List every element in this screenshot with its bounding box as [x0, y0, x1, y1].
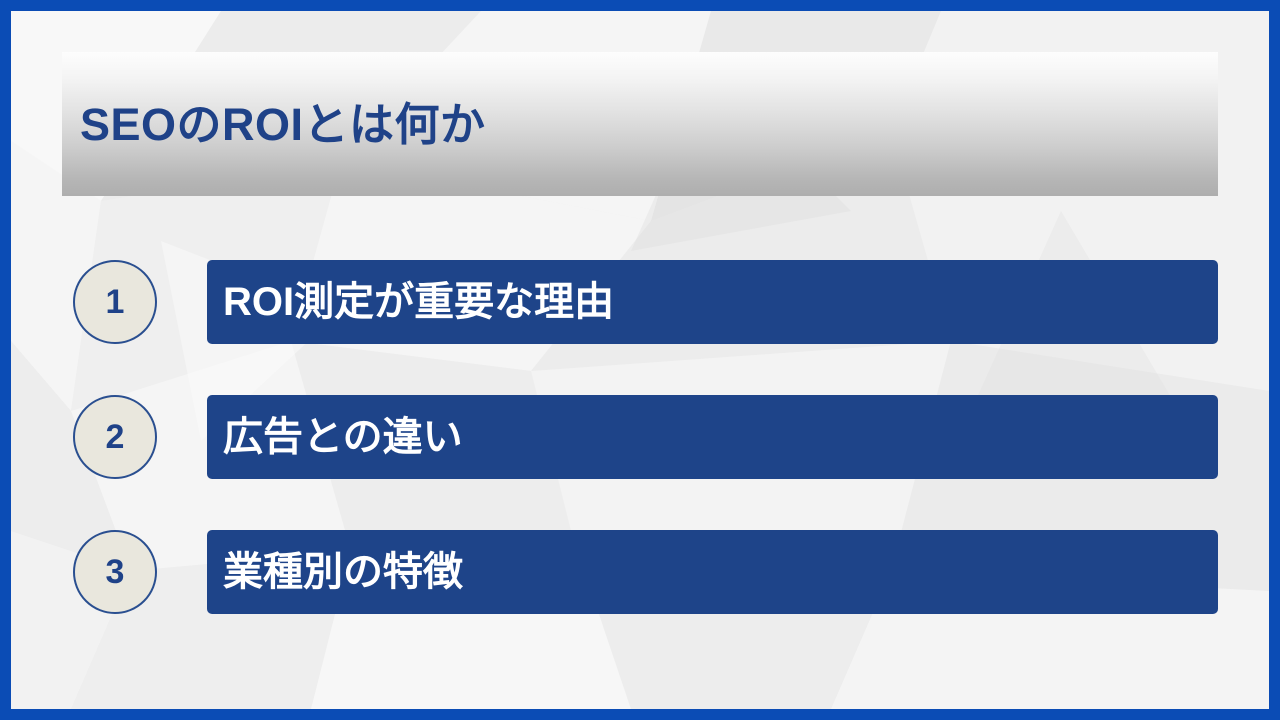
agenda-item-3[interactable]: 3 業種別の特徴 — [62, 530, 1218, 614]
presentation-slide: SEOのROIとは何か 1 ROI測定が重要な理由 2 広告との違い 3 — [0, 0, 1280, 720]
agenda-item-1[interactable]: 1 ROI測定が重要な理由 — [62, 260, 1218, 344]
agenda-label-bar-1[interactable]: ROI測定が重要な理由 — [207, 260, 1218, 344]
slide-canvas: SEOのROIとは何か 1 ROI測定が重要な理由 2 広告との違い 3 — [11, 11, 1269, 709]
agenda-label-1: ROI測定が重要な理由 — [223, 282, 614, 322]
agenda-number-badge-3: 3 — [73, 530, 157, 614]
agenda-label-2: 広告との違い — [223, 417, 463, 457]
agenda-number-badge-1: 1 — [73, 260, 157, 344]
agenda-number-1: 1 — [106, 285, 125, 319]
agenda-label-bar-3[interactable]: 業種別の特徴 — [207, 530, 1218, 614]
slide-title-bar: SEOのROIとは何か — [62, 52, 1218, 196]
agenda-number-3: 3 — [106, 555, 125, 589]
agenda-label-3: 業種別の特徴 — [223, 552, 463, 592]
page-title: SEOのROIとは何か — [80, 102, 486, 147]
agenda-number-2: 2 — [106, 420, 125, 454]
agenda-item-2[interactable]: 2 広告との違い — [62, 395, 1218, 479]
agenda-number-badge-2: 2 — [73, 395, 157, 479]
agenda-label-bar-2[interactable]: 広告との違い — [207, 395, 1218, 479]
